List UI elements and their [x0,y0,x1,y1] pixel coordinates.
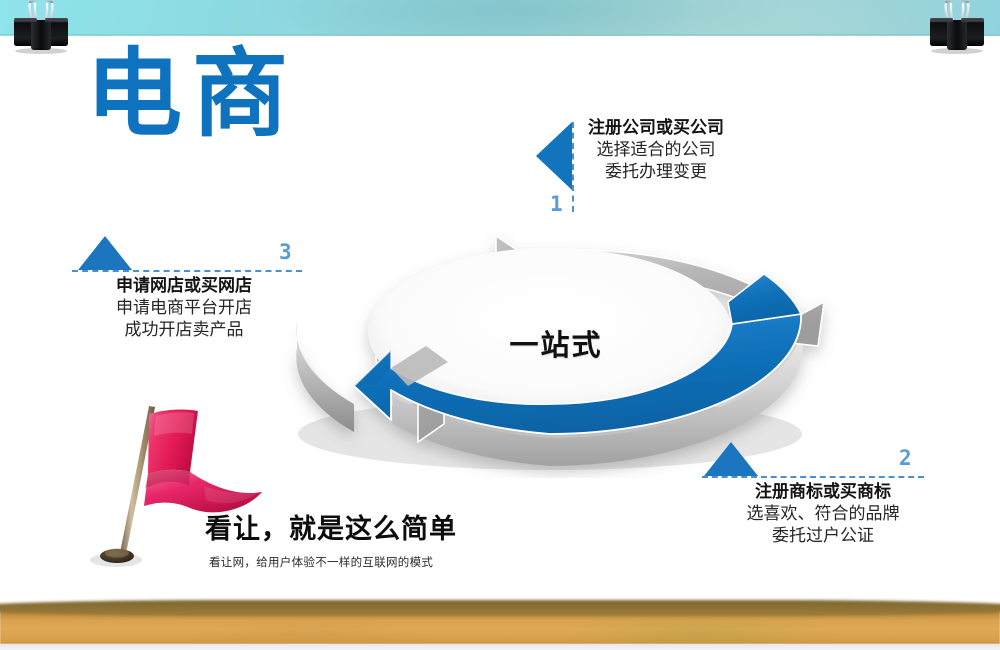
tagline-block: 看让，就是这么简单 看让网，给用户体验不一样的互联网的模式 [205,515,457,570]
callout-1-line-1: 选择适合的公司 [588,139,724,161]
triangle-up-icon [704,442,758,476]
page-title: 电商 [86,46,298,142]
bottom-banner-band [0,606,1000,644]
callout-3-heading: 申请网店或买网店 [56,276,312,297]
callout-2-text: 注册商标或买商标 选喜欢、符合的品牌 委托过户公证 [698,482,948,548]
triangle-up-icon [78,236,132,270]
callout-2-number: 2 [899,446,912,470]
dashed-line-vertical [572,122,574,212]
callout-3-line-2: 成功开店卖产品 [56,319,312,341]
top-banner-band [0,0,1000,36]
callout-2-heading: 注册商标或买商标 [698,482,948,503]
dashed-line-horizontal [702,476,924,478]
cycle-diagram [258,228,838,478]
triangle-left-icon [536,122,572,190]
bottom-edge-strip [0,644,1000,650]
tagline-sub: 看让网，给用户体验不一样的互联网的模式 [209,554,457,570]
callout-1-line-2: 委托办理变更 [588,161,724,183]
callout-1-heading: 注册公司或买公司 [588,118,724,139]
callout-2-line-1: 选喜欢、符合的品牌 [698,503,948,525]
callout-2-line-2: 委托过户公证 [698,525,948,547]
callout-3-number: 3 [279,240,292,264]
binder-clip-right-icon [926,0,988,54]
callout-3-text: 申请网店或买网店 申请电商平台开店 成功开店卖产品 [56,276,312,342]
tagline-headline: 看让，就是这么简单 [205,515,457,545]
dashed-line-horizontal [72,270,302,272]
callout-3-line-1: 申请电商平台开店 [56,297,312,319]
poster-canvas: 电商 [0,0,1000,650]
callout-1-text: 注册公司或买公司 选择适合的公司 委托办理变更 [588,118,724,184]
callout-1-number: 1 [550,192,563,216]
binder-clip-left-icon [10,0,72,54]
